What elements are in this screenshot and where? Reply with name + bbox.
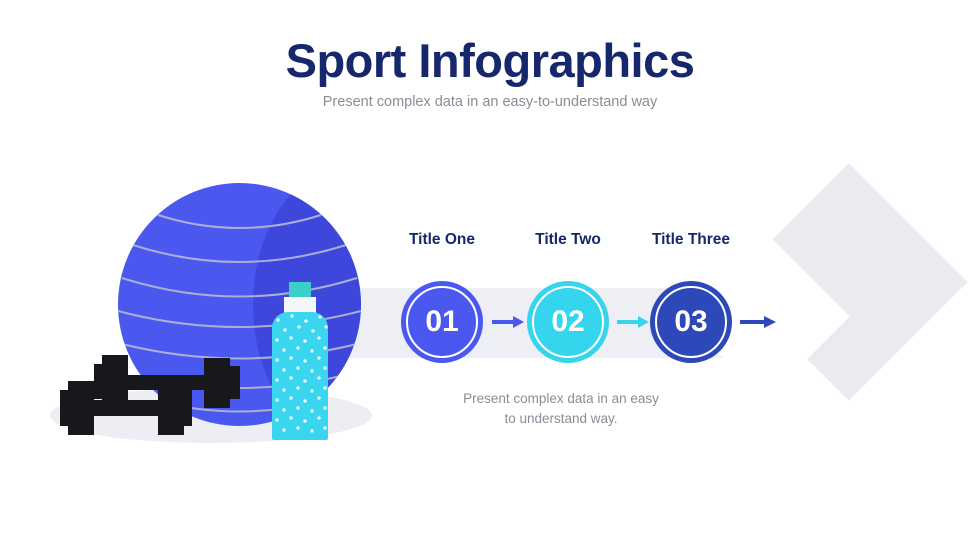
step-circle-two[interactable]: 02 xyxy=(527,281,609,363)
step-number-three: 03 xyxy=(674,307,707,337)
slide-canvas: Sport Infographics Present complex data … xyxy=(0,0,980,551)
arrow-three-out-icon xyxy=(740,316,776,328)
step-description-line-2: to understand way. xyxy=(504,411,617,426)
step-title-three: Title Three xyxy=(611,231,771,249)
step-number-two: 02 xyxy=(551,307,584,337)
step-number-one: 01 xyxy=(425,307,458,337)
step-circle-one[interactable]: 01 xyxy=(401,281,483,363)
step-circle-three[interactable]: 03 xyxy=(650,281,732,363)
step-description: Present complex data in an easy to under… xyxy=(430,389,692,428)
step-description-line-1: Present complex data in an easy xyxy=(463,391,659,406)
arrow-one-to-two-icon xyxy=(492,316,524,328)
process-steps: Title One 01 Title Two 02 Title Three 03 xyxy=(0,0,980,551)
arrow-two-to-three-icon xyxy=(617,316,649,328)
